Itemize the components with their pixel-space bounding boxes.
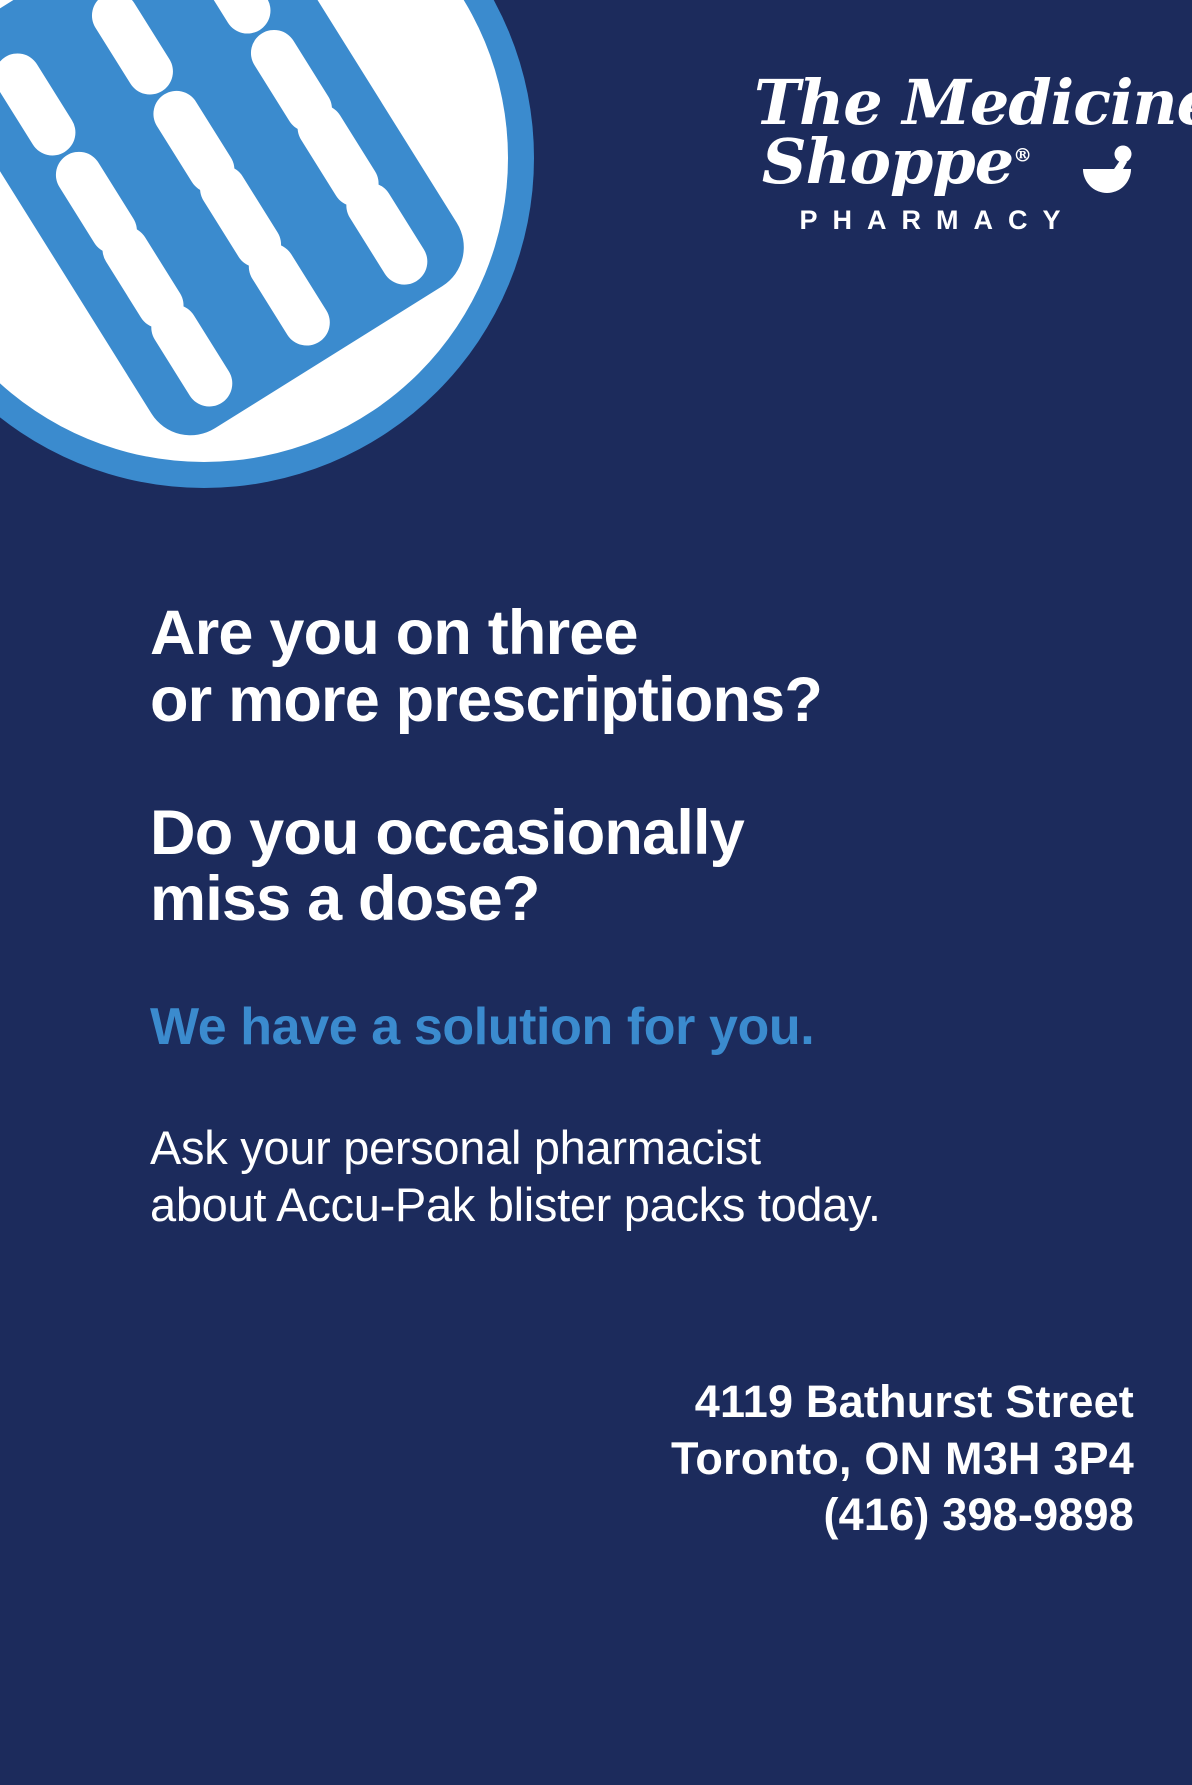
accent-solution-line: We have a solution for you. bbox=[150, 999, 1110, 1056]
mortar-and-pestle-icon bbox=[1080, 145, 1134, 197]
footer-city-province-postal: Toronto, ON M3H 3P4 bbox=[671, 1431, 1134, 1487]
footer-street-address: 4119 Bathurst Street bbox=[671, 1374, 1134, 1430]
poster-content: Are you on three or more prescriptions? … bbox=[150, 600, 1110, 1233]
blister-pack-badge bbox=[0, 0, 534, 488]
footer-contact-block: 4119 Bathurst Street Toronto, ON M3H 3P4… bbox=[671, 1374, 1134, 1543]
headline-prescriptions: Are you on three or more prescriptions? bbox=[150, 600, 1110, 734]
brand-logo: The Medicine Shoppe® PHARMACY bbox=[720, 74, 1140, 236]
logo-subtitle: PHARMACY bbox=[720, 205, 1140, 236]
registered-trademark-icon: ® bbox=[1013, 145, 1032, 167]
logo-line-2-text: Shoppe bbox=[762, 125, 1013, 198]
footer-phone-number[interactable]: (416) 398-9898 bbox=[671, 1487, 1134, 1543]
pharmacy-poster: The Medicine Shoppe® PHARMACY Are you on… bbox=[0, 0, 1192, 1785]
logo-line-1: The Medicine bbox=[720, 74, 1140, 132]
logo-line-2: Shoppe® bbox=[720, 132, 1140, 193]
body-copy-call-to-action: Ask your personal pharmacist about Accu-… bbox=[150, 1120, 1110, 1233]
headline-miss-dose: Do you occasionally miss a dose? bbox=[150, 800, 1110, 934]
